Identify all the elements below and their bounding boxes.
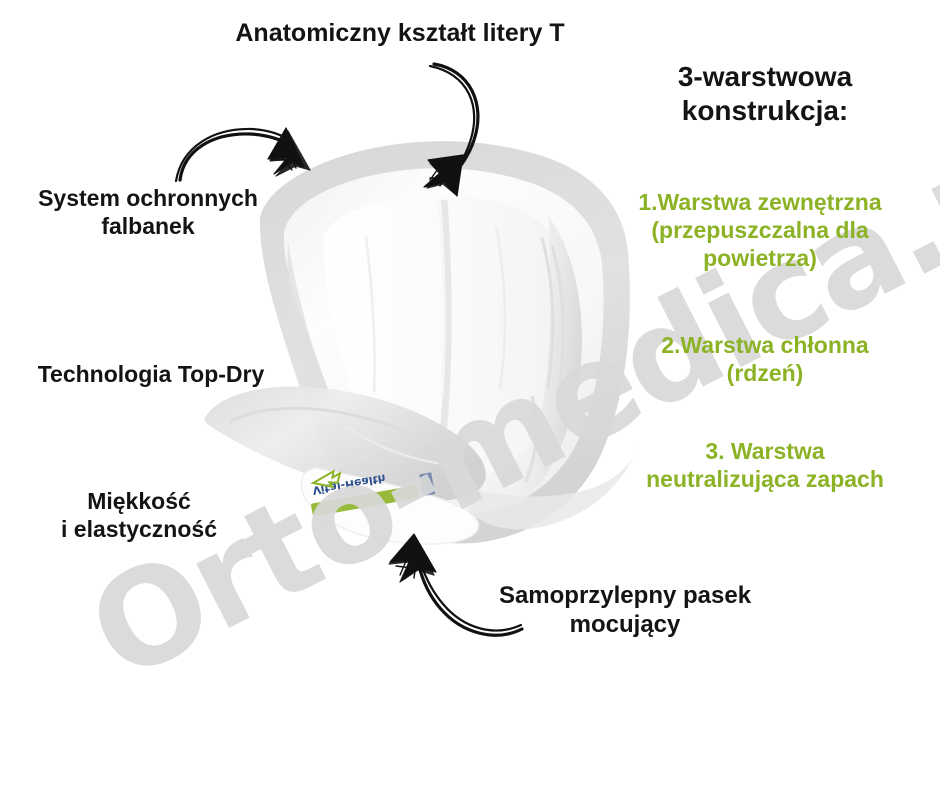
label-top-dry-technology: Technologia Top-Dry — [0, 360, 306, 388]
layer-1-line1: 1.Warstwa zewnętrzna — [580, 188, 940, 216]
heading-three-layer-construction: 3-warstwowa konstrukcja: — [600, 60, 930, 128]
layer-1-line3: powietrza) — [580, 244, 940, 272]
heading-line2: konstrukcja: — [600, 94, 930, 128]
label-softness-elasticity: Miękkość i elastyczność — [4, 487, 274, 543]
layer-1-line2: (przepuszczalna dla — [580, 216, 940, 244]
label-anatomical-shape: Anatomiczny kształt litery T — [190, 18, 610, 49]
layer-2-line1: 2.Warstwa chłonna — [590, 331, 940, 359]
label-protective-frills-line2: falbanek — [0, 212, 298, 240]
label-protective-frills: System ochronnych falbanek — [0, 184, 298, 240]
infographic-canvas: Vital-Health Orto-medica.pl — [0, 0, 940, 788]
label-protective-frills-line1: System ochronnych — [0, 184, 298, 212]
layer-2-line2: (rdzeń) — [590, 359, 940, 387]
layer-2-absorbent: 2.Warstwa chłonna (rdzeń) — [590, 331, 940, 387]
layer-3-line1: 3. Warstwa — [590, 437, 940, 465]
label-softness-line1: Miękkość — [4, 487, 274, 515]
layer-1-outer: 1.Warstwa zewnętrzna (przepuszczalna dla… — [580, 188, 940, 272]
label-adhesive-strip: Samoprzylepny pasek mocujący — [440, 581, 810, 640]
label-adhesive-strip-line1: Samoprzylepny pasek — [440, 581, 810, 610]
label-softness-line2: i elastyczność — [4, 515, 274, 543]
layer-3-odour-neutralising: 3. Warstwa neutralizująca zapach — [590, 437, 940, 493]
heading-line1: 3-warstwowa — [600, 60, 930, 94]
layer-3-line2: neutralizująca zapach — [590, 465, 940, 493]
label-adhesive-strip-line2: mocujący — [440, 610, 810, 639]
